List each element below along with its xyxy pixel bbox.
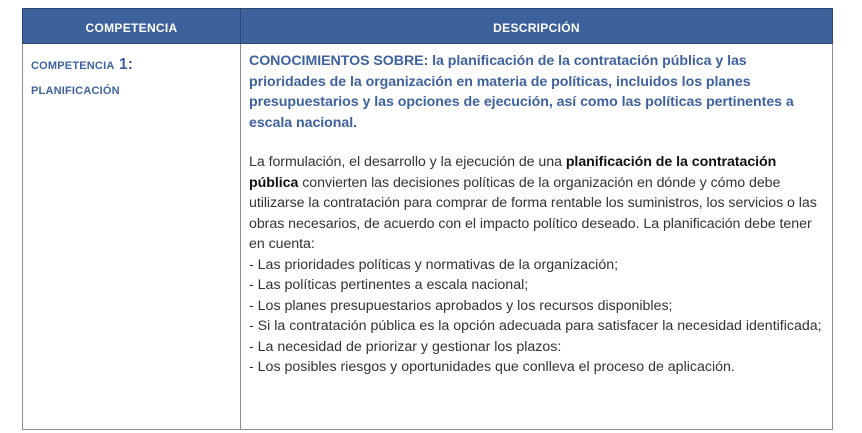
cell-descripcion: CONOCIMIENTOS SOBRE: la planificación de… [241, 44, 833, 430]
list-item: - Las prioridades políticas y normativas… [249, 255, 822, 276]
description-dash-list: - Las prioridades políticas y normativas… [249, 255, 822, 378]
table-row: Competencia 1: Planificación CONOCIMIENT… [23, 44, 833, 430]
competency-title-line-2: Planificación [31, 77, 234, 102]
list-item: - Los planes presupuestarios aprobados y… [249, 296, 822, 317]
list-item: - Los posibles riesgos y oportunidades q… [249, 357, 822, 378]
column-header-competencia: Competencia [23, 9, 241, 44]
column-header-competencia-label: Competencia [86, 16, 178, 37]
column-header-descripcion: Descripción [241, 9, 833, 44]
description-body-part-1: La formulación, el desarrollo y la ejecu… [249, 154, 566, 170]
competency-title-line-1: Competencia 1: [31, 52, 234, 77]
description-body-paragraph: La formulación, el desarrollo y la ejecu… [249, 152, 822, 255]
description-body-part-2: convierten las decisiones políticas de l… [249, 175, 817, 253]
table-header-row: Competencia Descripción [23, 9, 833, 44]
competency-table: Competencia Descripción Competencia 1: P… [22, 8, 833, 430]
description-intro-label: CONOCIMIENTOS SOBRE: [249, 53, 428, 69]
list-item: - Si la contratación pública es la opció… [249, 316, 822, 337]
list-item: - Las políticas pertinentes a escala nac… [249, 275, 822, 296]
competency-title: Competencia 1: Planificación [31, 52, 234, 102]
cell-competencia: Competencia 1: Planificación [23, 44, 241, 430]
document-page: Competencia Descripción Competencia 1: P… [0, 0, 862, 433]
list-item: - La necesidad de priorizar y gestionar … [249, 337, 822, 358]
table-header: Competencia Descripción [23, 9, 833, 44]
table-body: Competencia 1: Planificación CONOCIMIENT… [23, 44, 833, 430]
description-intro-paragraph: CONOCIMIENTOS SOBRE: la planificación de… [249, 51, 822, 133]
paragraph-spacer [249, 133, 822, 152]
column-header-descripcion-label: Descripción [493, 16, 580, 37]
